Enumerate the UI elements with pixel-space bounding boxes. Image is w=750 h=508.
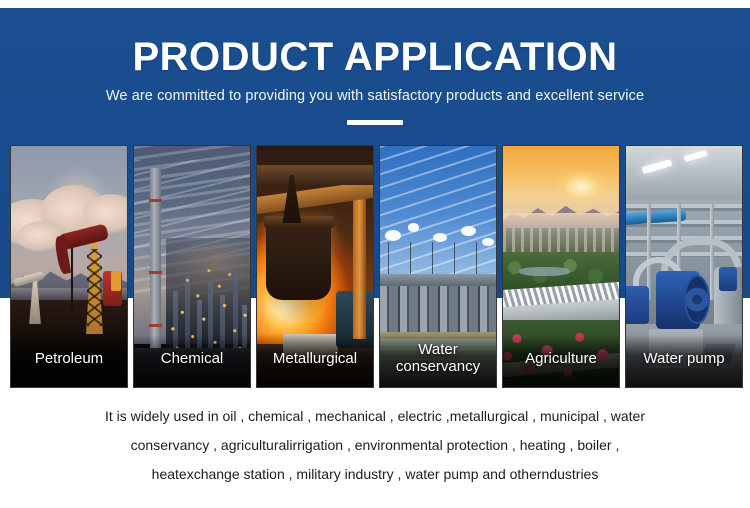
application-card-metallurgical[interactable]: Metallurgical <box>256 145 374 388</box>
card-caption: Metallurgical <box>257 335 373 387</box>
application-cards: Petroleum Chemical <box>10 145 742 388</box>
application-card-water-pump[interactable]: Water pump <box>625 145 743 388</box>
description-line-1: It is widely used in oil , chemical , me… <box>34 402 716 431</box>
title-divider <box>347 120 403 125</box>
page-title: PRODUCT APPLICATION <box>0 8 750 78</box>
application-card-petroleum[interactable]: Petroleum <box>10 145 128 388</box>
application-card-chemical[interactable]: Chemical <box>133 145 251 388</box>
page-subtitle: We are committed to providing you with s… <box>0 78 750 104</box>
card-caption: Petroleum <box>11 335 127 387</box>
card-caption-text: Waterconservancy <box>396 342 480 376</box>
card-caption: Water pump <box>626 335 742 387</box>
card-caption: Agriculture <box>503 335 619 387</box>
card-caption: Waterconservancy <box>380 335 496 387</box>
card-caption: Chemical <box>134 335 250 387</box>
banner-content: PRODUCT APPLICATION We are committed to … <box>0 8 750 125</box>
description-line-2: conservancy , agriculturalirrigation , e… <box>34 431 716 460</box>
description-line-3: heatexchange station , military industry… <box>34 460 716 489</box>
application-card-agriculture[interactable]: Agriculture <box>502 145 620 388</box>
application-description: It is widely used in oil , chemical , me… <box>34 402 716 489</box>
application-card-water-conservancy[interactable]: Waterconservancy <box>379 145 497 388</box>
